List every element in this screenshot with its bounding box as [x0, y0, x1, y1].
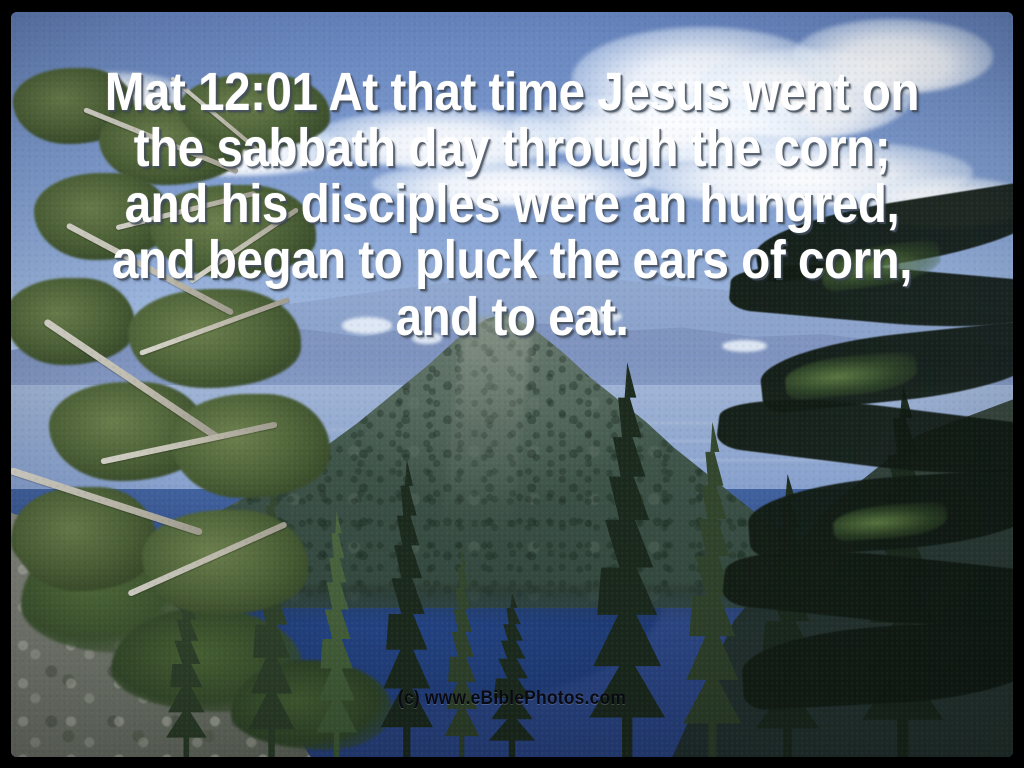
photograph: Mat 12:01 At that time Jesus went on the…	[11, 12, 1013, 757]
pine-foliage	[171, 394, 330, 499]
pine-foliage	[179, 74, 331, 150]
left-whitebark-pine	[11, 57, 352, 638]
cloud	[793, 19, 993, 94]
pine-foliage	[13, 487, 157, 592]
pine-foliage	[11, 278, 135, 365]
photo-frame: Mat 12:01 At that time Jesus went on the…	[0, 0, 1024, 768]
snow-patch	[412, 332, 442, 343]
cloud	[372, 161, 653, 206]
brush-clump	[231, 660, 391, 749]
right-spruce-boughs	[742, 191, 1013, 742]
spruce-bough	[741, 618, 1013, 711]
